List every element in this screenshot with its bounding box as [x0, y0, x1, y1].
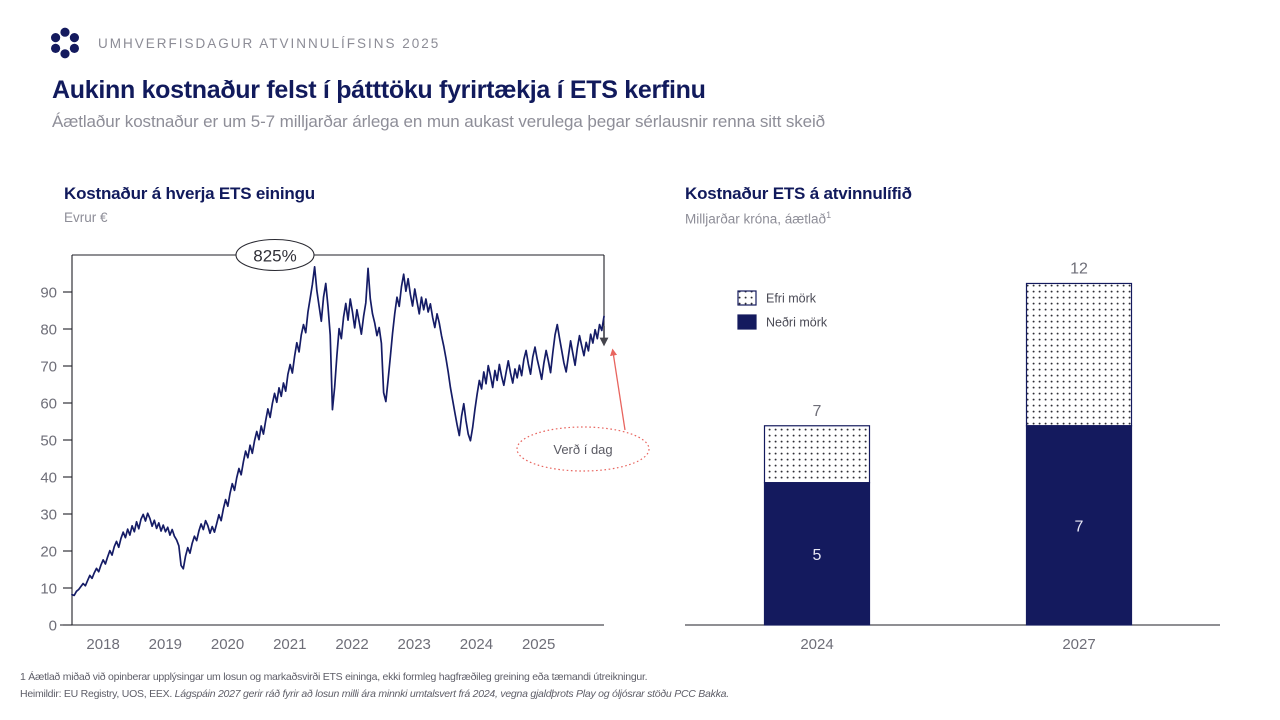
right-chart-subtitle-text: Milljarðar króna, áætlað — [685, 212, 826, 227]
left-chart-subtitle: Evrur € — [64, 210, 108, 225]
flower-dot-logo-icon — [48, 26, 82, 60]
bar-category-label: 2024 — [800, 636, 833, 653]
bar-category-label: 2027 — [1062, 636, 1095, 653]
x-tick-label: 2025 — [522, 636, 555, 653]
x-tick-label: 2023 — [398, 636, 431, 653]
x-tick-label: 2022 — [335, 636, 368, 653]
x-tick-label: 2021 — [273, 636, 306, 653]
footnote-sources: Heimildir: EU Registry, UOS, EEX. — [20, 688, 175, 700]
bar-segment-efri-mork — [765, 426, 870, 483]
y-tick-label: 50 — [40, 433, 57, 450]
y-tick-label: 10 — [40, 581, 57, 598]
y-tick-label: 0 — [49, 618, 57, 635]
x-tick-label: 2019 — [149, 636, 182, 653]
footnote-line-2: Heimildir: EU Registry, UOS, EEX. Lágspá… — [20, 688, 729, 700]
right-chart-subtitle: Milljarðar króna, áætlað1 — [685, 210, 831, 227]
x-tick-label: 2018 — [86, 636, 119, 653]
page-subtitle: Áætlaður kostnaður er um 5-7 milljarðar … — [52, 112, 825, 132]
line-chart-y-axis: 0102030405060708090 — [40, 285, 72, 635]
callout-arrow-icon — [613, 352, 625, 430]
left-chart-title: Kostnaður á hverja ETS einingu — [64, 184, 315, 204]
callout-label: Verð í dag — [553, 442, 612, 457]
line-chart-x-axis: 20182019202020212022202320242025 — [86, 636, 555, 653]
page-title: Aukinn kostnaður felst í þátttöku fyrirt… — [52, 76, 706, 105]
y-tick-label: 40 — [40, 470, 57, 487]
footnote-line-1: 1 Áætlað miðað við opinberar upplýsingar… — [20, 671, 647, 683]
y-tick-label: 80 — [40, 322, 57, 339]
legend-label-efri-mork: Efri mörk — [766, 292, 817, 306]
y-tick-label: 60 — [40, 396, 57, 413]
brand-label: UMHVERFISDAGUR ATVINNULÍFSINS 2025 — [98, 36, 440, 51]
right-chart-subtitle-footnote-marker: 1 — [826, 210, 831, 220]
price-today-callout: Verð í dag — [517, 352, 649, 471]
line-chart: 0102030405060708090 20182019202020212022… — [0, 230, 660, 660]
right-chart-title: Kostnaður ETS á atvinnulífið — [685, 184, 912, 204]
legend-swatch-nedri-mork — [738, 315, 756, 329]
bar-chart-x-axis: 20242027 — [800, 636, 1095, 653]
bar-chart: 75127 20242027 Efri mörk Neðri mörk — [660, 230, 1260, 660]
line-chart-series-eua-price — [72, 267, 604, 596]
growth-badge: 825% — [236, 240, 314, 271]
y-tick-label: 30 — [40, 507, 57, 524]
bar-value-label: 7 — [1075, 518, 1084, 535]
legend-swatch-efri-mork — [738, 291, 756, 305]
footnote-note-italic: Lágspáin 2027 gerir ráð fyrir að losun m… — [175, 688, 729, 700]
bar-segment-efri-mork — [1027, 283, 1132, 425]
line-chart-frame — [60, 255, 604, 625]
bar-total-label: 12 — [1070, 260, 1088, 277]
y-tick-label: 90 — [40, 285, 57, 302]
x-tick-label: 2024 — [460, 636, 493, 653]
y-tick-label: 20 — [40, 544, 57, 561]
x-tick-label: 2020 — [211, 636, 244, 653]
bar-value-label: 5 — [813, 547, 822, 564]
growth-badge-label: 825% — [253, 247, 296, 266]
y-tick-label: 70 — [40, 359, 57, 376]
legend-label-nedri-mork: Neðri mörk — [766, 316, 828, 330]
bar-total-label: 7 — [813, 403, 822, 420]
brand-bar: UMHVERFISDAGUR ATVINNULÍFSINS 2025 — [48, 26, 440, 60]
bar-chart-legend: Efri mörk Neðri mörk — [738, 291, 828, 330]
